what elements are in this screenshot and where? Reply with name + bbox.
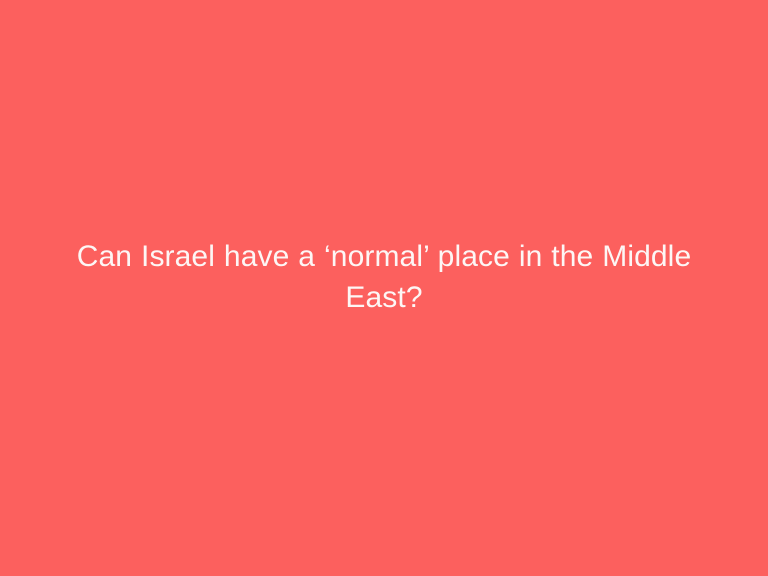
headline-card: Can Israel have a ‘normal’ place in the … xyxy=(0,0,768,576)
page-title: Can Israel have a ‘normal’ place in the … xyxy=(56,236,712,318)
headline-block: Can Israel have a ‘normal’ place in the … xyxy=(0,236,768,318)
